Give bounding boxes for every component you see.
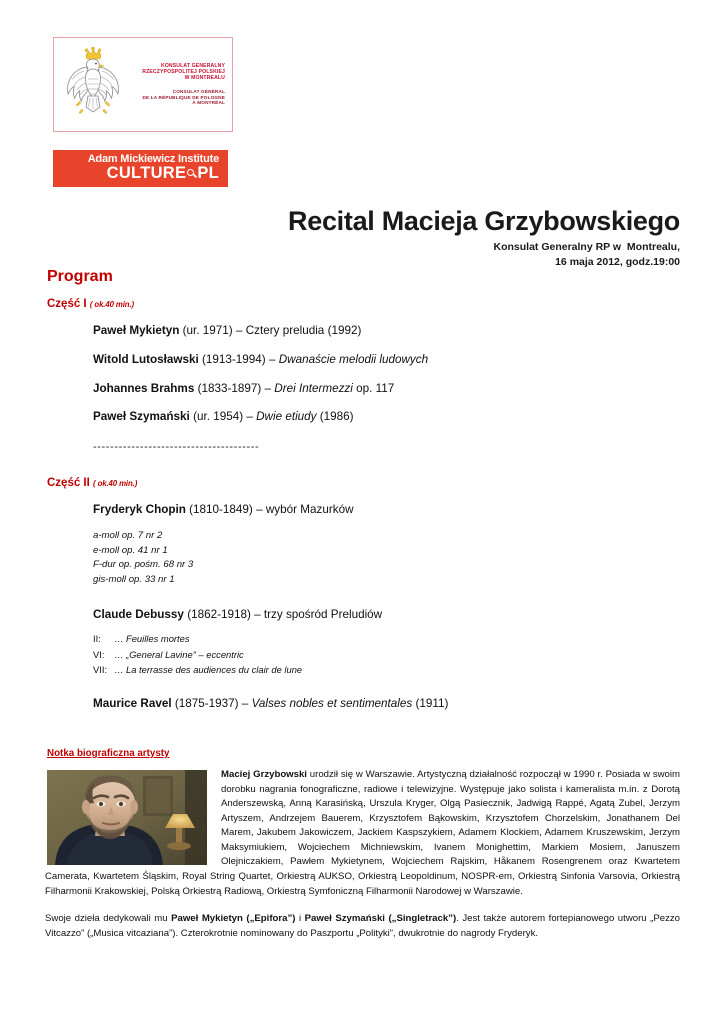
part-1-duration: ( ok.40 min.) xyxy=(90,300,134,309)
composer-dates: (1913-1994) xyxy=(202,353,266,366)
polish-consulate-logo: KONSULAT GENERALNY RZECZYPOSPOLITEJ POLS… xyxy=(53,37,233,132)
composer-name: Paweł Szymański xyxy=(93,410,190,423)
culture-pl-logo: Adam Mickiewicz Institute CULTUREPL xyxy=(53,150,228,187)
dedication-conjunction: i xyxy=(295,913,304,924)
dedication-composer-1: Paweł Mykietyn („Epifora”) xyxy=(171,913,295,924)
prelude-number: II: xyxy=(93,631,114,646)
work-item: Paweł Szymański (ur. 1954) – Dwie etiudy… xyxy=(93,409,680,425)
composer-dates: (1875-1937) xyxy=(175,697,239,710)
dedication-intro: Swoje dzieła dedykowali mu xyxy=(45,913,171,924)
work-suffix: op. 117 xyxy=(356,382,394,395)
part-2-heading: Część II ( ok.40 min.) xyxy=(47,477,680,489)
section-separator: --------------------------------------- xyxy=(93,441,680,453)
work-title: Dwanaście melodii ludowych xyxy=(279,353,428,366)
part-2-label: Część II xyxy=(47,477,90,489)
artist-name: Maciej Grzybowski xyxy=(221,769,307,780)
mazurka-list: a-moll op. 7 nr 2 e-moll op. 41 nr 1 F-d… xyxy=(93,529,680,588)
biography-paragraph-2: Swoje dzieła dedykowali mu Paweł Mykiety… xyxy=(45,912,680,941)
pl-word: PL xyxy=(197,165,219,182)
prelude-tail: – eccentric xyxy=(196,649,244,660)
composer-name: Maurice Ravel xyxy=(93,697,172,710)
composer-dates: (1862-1918) xyxy=(187,608,251,621)
work-item: Fryderyk Chopin (1810-1849) – wybór Mazu… xyxy=(93,502,680,518)
composer-dates: (1810-1849) xyxy=(189,503,253,516)
prelude-lead: … xyxy=(114,633,126,644)
work-title: Drei Intermezzi xyxy=(274,382,353,395)
prelude-title: „General Lavine” xyxy=(126,649,196,660)
work-suffix: (1911) xyxy=(416,697,449,710)
work-dash: – xyxy=(242,697,249,710)
work-dash: – xyxy=(269,353,276,366)
consulate-fr-line-3: À MONTRÉAL xyxy=(129,100,225,106)
consulate-logo-text: KONSULAT GENERALNY RZECZYPOSPOLITEJ POLS… xyxy=(129,63,232,107)
culture-word: CULTURE xyxy=(107,165,187,182)
document-page: KONSULAT GENERALNY RZECZYPOSPOLITEJ POLS… xyxy=(0,0,725,1024)
work-item: Claude Debussy (1862-1918) – trzy spośró… xyxy=(93,607,680,623)
composer-dates: (ur. 1971) xyxy=(183,324,233,337)
work-suffix: (1992) xyxy=(328,324,362,337)
work-title: Cztery preludia xyxy=(246,324,325,337)
composer-dates: (ur. 1954) xyxy=(193,410,243,423)
prelude-title: Feuilles mortes xyxy=(126,633,190,644)
mazurka-item: e-moll op. 41 nr 1 xyxy=(93,544,680,559)
biography-body: Maciej Grzybowski urodził się w Warszawi… xyxy=(45,768,680,941)
magnifier-icon xyxy=(186,165,197,178)
composer-name: Claude Debussy xyxy=(93,608,184,621)
page-title: Recital Macieja Grzybowskiego xyxy=(45,207,680,237)
dedication-composer-2: Paweł Szymański („Singletrack”) xyxy=(305,913,457,924)
prelude-item: II:… Feuilles mortes xyxy=(93,631,680,646)
work-title: Valses nobles et sentimentales xyxy=(252,697,413,710)
consulate-pl-line-3: W MONTREALU xyxy=(129,75,225,81)
biography-heading: Notka biograficzna artysty xyxy=(47,748,680,759)
composer-name: Paweł Mykietyn xyxy=(93,324,179,337)
composer-name: Witold Lutosławski xyxy=(93,353,199,366)
mazurka-item: F-dur op. pośm. 68 nr 3 xyxy=(93,558,680,573)
culture-pl-wordmark: CULTUREPL xyxy=(107,165,219,182)
prelude-item: VI:… „General Lavine” – eccentric xyxy=(93,647,680,662)
prelude-number: VII: xyxy=(93,662,114,677)
prelude-lead: … xyxy=(114,649,126,660)
work-dash: – xyxy=(265,382,272,395)
part-2-duration: ( ok.40 min.) xyxy=(93,479,137,488)
work-dash: – xyxy=(256,503,263,516)
work-title: trzy spośród Preludiów xyxy=(264,608,382,621)
prelude-item: VII:… La terrasse des audiences du clair… xyxy=(93,662,680,677)
composer-name: Johannes Brahms xyxy=(93,382,194,395)
work-dash: – xyxy=(246,410,253,423)
prelude-number: VI: xyxy=(93,647,114,662)
composer-name: Fryderyk Chopin xyxy=(93,503,186,516)
mazurka-item: a-moll op. 7 nr 2 xyxy=(93,529,680,544)
prelude-list: II:… Feuilles mortes VI:… „General Lavin… xyxy=(93,631,680,677)
work-title: Dwie etiudy xyxy=(256,410,316,423)
work-dash: – xyxy=(236,324,243,337)
part-1-work-list: Paweł Mykietyn (ur. 1971) – Cztery prelu… xyxy=(45,323,680,453)
part-2-work-list: Fryderyk Chopin (1810-1849) – wybór Mazu… xyxy=(45,502,680,712)
part-1-label: Część I xyxy=(47,298,87,310)
prelude-title: La terrasse des audiences du clair de lu… xyxy=(126,664,302,675)
program-heading: Program xyxy=(47,268,680,286)
work-suffix: (1986) xyxy=(320,410,354,423)
mazurka-item: gis-moll op. 33 nr 1 xyxy=(93,573,680,588)
prelude-lead: … xyxy=(114,664,126,675)
work-item: Witold Lutosławski (1913-1994) – Dwanaśc… xyxy=(93,352,680,368)
part-1-heading: Część I ( ok.40 min.) xyxy=(47,298,680,310)
artist-photo xyxy=(47,770,207,865)
work-dash: – xyxy=(254,608,261,621)
composer-dates: (1833-1897) xyxy=(198,382,262,395)
header-subtitle-venue: Konsulat Generalny RP w Montrealu, xyxy=(45,240,680,255)
work-item: Paweł Mykietyn (ur. 1971) – Cztery prelu… xyxy=(93,323,680,339)
polish-eagle-icon xyxy=(57,43,129,127)
header-title-block: Recital Macieja Grzybowskiego Konsulat G… xyxy=(45,207,680,270)
work-title: wybór Mazurków xyxy=(266,503,354,516)
work-item: Johannes Brahms (1833-1897) – Drei Inter… xyxy=(93,381,680,397)
program-content: Program Część I ( ok.40 min.) Paweł Myki… xyxy=(45,268,680,941)
work-item: Maurice Ravel (1875-1937) – Valses noble… xyxy=(93,696,680,712)
